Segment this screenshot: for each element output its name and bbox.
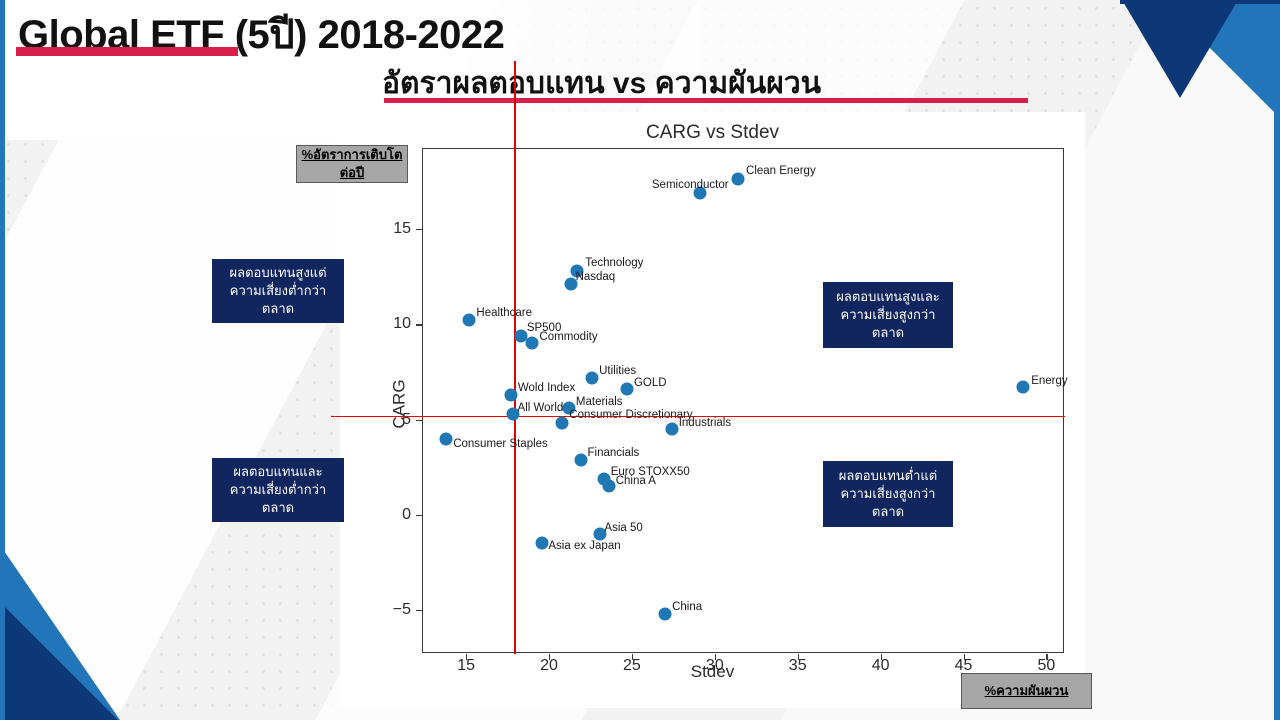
callout-top-left: ผลตอบแทนสูงแต่ความเสี่ยงต่ำกว่าตลาด	[212, 259, 344, 323]
scatter-point	[526, 337, 539, 350]
slide-title: Global ETF (5ปี) 2018-2022	[18, 2, 504, 66]
bottom-left-navy-triangle	[0, 602, 118, 720]
chart-title: CARG vs Stdev	[340, 122, 1085, 144]
y-tick-mark	[416, 420, 422, 421]
scatter-point-label: Healthcare	[476, 307, 532, 319]
scatter-point-label: Utilities	[599, 365, 636, 377]
scatter-point-label: Financials	[588, 447, 640, 459]
slide-subtitle-underline	[384, 98, 1028, 103]
slide-title-underline	[16, 47, 238, 56]
scatter-point	[463, 314, 476, 327]
callout-bottom-left: ผลตอบแทนและความเสี่ยงต่ำกว่าตลาด	[212, 458, 344, 522]
scatter-point-label: Commodity	[539, 331, 597, 343]
slide-canvas: Global ETF (5ปี) 2018-2022 อัตราผลตอบแทน…	[0, 0, 1280, 720]
callout-bottom-right: ผลตอบแทนต่ำแต่ความเสี่ยงสูงกว่าตลาด	[823, 461, 953, 527]
callout-top-right: ผลตอบแทนสูงและความเสี่ยงสูงกว่าตลาด	[823, 282, 953, 348]
y-tick-label: 5	[402, 411, 411, 429]
top-right-navy-triangle	[1122, 0, 1238, 98]
y-tick-mark	[416, 229, 422, 230]
scatter-point	[1017, 381, 1030, 394]
scatter-point	[602, 480, 615, 493]
scatter-point-label: Consumer Staples	[453, 438, 548, 450]
y-tick-label: 0	[402, 506, 411, 524]
scatter-point-label: China	[672, 601, 702, 613]
scatter-point	[586, 371, 599, 384]
y-tick-mark	[416, 515, 422, 516]
left-edge-bar	[0, 0, 5, 720]
scatter-point-label: Nasdaq	[576, 271, 616, 283]
y-tick-label: 10	[393, 315, 411, 333]
scatter-point	[556, 417, 569, 430]
top-right-edge-bar	[1120, 0, 1280, 4]
y-tick-label: 15	[393, 220, 411, 238]
scatter-point	[659, 607, 672, 620]
scatter-point-label: Materials	[576, 396, 623, 408]
y-tick-mark	[416, 324, 422, 325]
y-tick-label: −5	[393, 601, 411, 619]
scatter-point-label: Clean Energy	[746, 165, 816, 177]
scatter-point	[536, 537, 549, 550]
scatter-point	[440, 432, 453, 445]
scatter-point-label: China A	[616, 475, 656, 487]
x-axis-tag: %ความผันผวน	[961, 673, 1092, 709]
scatter-point-label: Energy	[1031, 375, 1067, 387]
scatter-point	[732, 173, 745, 186]
plot-area: CARG 1520253035404550−5051015Clean Energ…	[422, 148, 1064, 653]
scatter-point-label: Asia ex Japan	[548, 540, 620, 552]
right-edge-bar	[1274, 0, 1280, 720]
scatter-point-label: Semiconductor	[652, 179, 729, 191]
chart-panel: CARG vs Stdev CARG 1520253035404550−5051…	[340, 112, 1085, 708]
scatter-point	[504, 388, 517, 401]
scatter-point	[574, 453, 587, 466]
scatter-point	[620, 383, 633, 396]
scatter-point-label: GOLD	[634, 377, 667, 389]
scatter-point	[665, 423, 678, 436]
scatter-point-label: Industrials	[679, 417, 731, 429]
scatter-point-label: Consumer Discretionary	[569, 409, 692, 421]
vertical-reference-line	[514, 61, 515, 654]
scatter-point-label: Asia 50	[604, 522, 642, 534]
scatter-point-label: Wold Index	[518, 382, 575, 394]
scatter-point-label: Technology	[585, 257, 643, 269]
y-axis-tag: %อัตราการเติบโตต่อปี	[296, 145, 408, 183]
y-tick-mark	[416, 610, 422, 611]
scatter-point-label: All World	[518, 402, 564, 414]
